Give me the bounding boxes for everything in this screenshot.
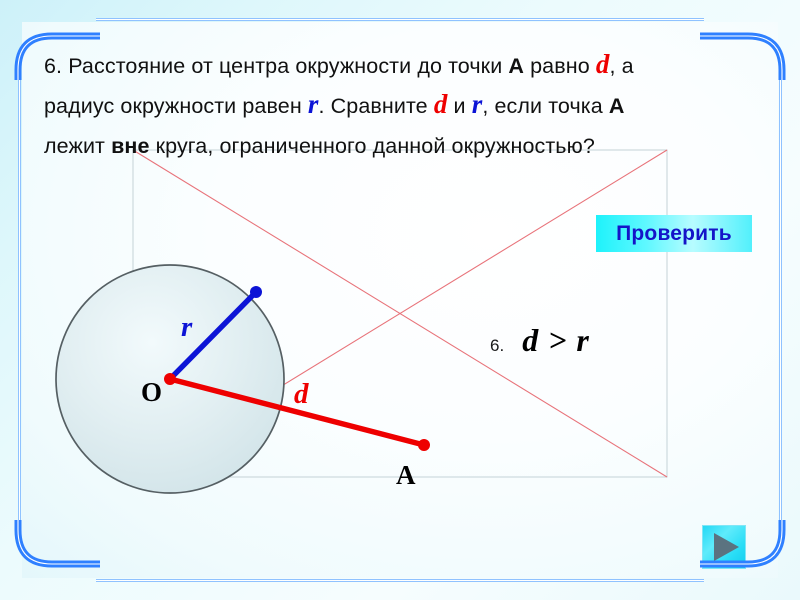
problem-statement: 6. Расстояние от центра окружности до то… xyxy=(44,46,756,166)
problem-line2-part2: . Сравните xyxy=(318,94,433,118)
problem-line3-emphasis: вне xyxy=(111,134,149,158)
problem-line2-var-d: d xyxy=(434,89,448,119)
label-point-a: A xyxy=(396,460,416,491)
problem-line1-point-a: A xyxy=(508,54,524,78)
problem-line1-part2: равно xyxy=(524,54,596,78)
problem-line3-part1: лежит xyxy=(44,134,111,158)
problem-line2-part4: , если точка xyxy=(482,94,609,118)
check-button[interactable]: Проверить xyxy=(596,215,752,252)
slide-canvas: O A r d 6. Расстояние от центра окружнос… xyxy=(0,0,800,600)
frame-corner-top-right xyxy=(700,14,786,80)
check-button-label: Проверить xyxy=(616,222,732,246)
problem-line3-part2: круга, ограниченного данной окружностью? xyxy=(150,134,595,158)
problem-line2-part3: и xyxy=(447,94,471,118)
problem-line1-part3: , а xyxy=(609,54,633,78)
frame-corner-bottom-left xyxy=(14,520,100,586)
point-on-circle-marker xyxy=(250,286,262,298)
answer-expression: d > r xyxy=(522,322,590,359)
problem-line2-point-a: A xyxy=(609,94,625,118)
label-distance-d: d xyxy=(294,378,309,411)
problem-line1-part1: 6. Расстояние от центра окружности до то… xyxy=(44,54,508,78)
answer-number: 6. xyxy=(490,336,504,356)
problem-line2-var-r2: r xyxy=(472,89,483,119)
frame-rule-bottom xyxy=(96,579,704,582)
frame-corner-bottom-right xyxy=(700,520,786,586)
answer-block: 6. d > r xyxy=(490,322,590,359)
problem-line2-part1: радиус окружности равен xyxy=(44,94,308,118)
frame-rule-top xyxy=(96,18,704,21)
frame-corner-top-left xyxy=(14,14,100,80)
frame-rule-left xyxy=(18,76,21,524)
frame-rule-right xyxy=(779,76,782,524)
problem-line1-var-d: d xyxy=(596,49,610,79)
problem-line2-var-r: r xyxy=(308,89,319,119)
label-radius-r: r xyxy=(181,311,192,344)
point-a-marker xyxy=(418,439,430,451)
label-center-o: O xyxy=(141,377,162,408)
center-point-marker xyxy=(164,373,176,385)
